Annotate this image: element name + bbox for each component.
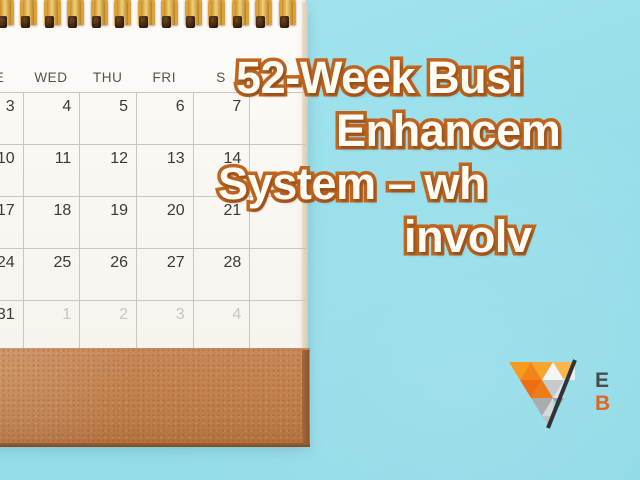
calendar-day-number: 3	[6, 98, 15, 116]
spiral-ring	[113, 0, 126, 32]
spiral-hole	[0, 16, 7, 28]
calendar-base-bottom	[0, 443, 310, 447]
spiral-hole	[256, 16, 265, 28]
calendar-base-edge	[302, 350, 309, 445]
brand-logo[interactable]: E B	[505, 358, 640, 438]
spiral-ring	[160, 0, 173, 32]
calendar-day-cell[interactable]: 20	[136, 197, 193, 248]
calendar-day-number: 4	[232, 306, 241, 324]
spiral-hole	[162, 16, 171, 28]
calendar-day-number: 11	[55, 150, 72, 168]
spiral-ring	[0, 0, 9, 32]
calendar-day-cell[interactable]: 31	[0, 301, 23, 352]
calendar-day-number: 1	[62, 306, 71, 324]
calendar-day-number: 6	[176, 98, 185, 116]
spiral-hole	[233, 16, 242, 28]
calendar-day-number: 24	[0, 254, 15, 272]
triangle-logo-icon	[505, 358, 593, 430]
calendar-cardboard-base	[0, 348, 310, 445]
calendar-day-number: 27	[167, 254, 185, 272]
calendar-day-number: 5	[119, 98, 128, 116]
calendar-day-cell[interactable]: 5	[79, 93, 136, 144]
calendar-day-cell[interactable]: 13	[136, 145, 193, 196]
calendar-day-cell[interactable]: 24	[0, 249, 23, 300]
calendar-day-cell[interactable]: 25	[23, 249, 80, 300]
title-line-2: Enhancem	[336, 105, 640, 158]
calendar-day-number: 17	[0, 202, 15, 220]
weekday-header: WED	[23, 70, 80, 85]
spiral-hole	[21, 16, 30, 28]
spiral-hole	[115, 16, 124, 28]
calendar-day-number: 13	[167, 150, 185, 168]
calendar-day-number: 10	[0, 150, 15, 168]
spiral-hole	[68, 16, 77, 28]
title-line-1: 52-Week Busi	[236, 52, 640, 105]
spiral-hole	[45, 16, 54, 28]
calendar-day-cell[interactable]: 1	[23, 301, 80, 352]
calendar-day-cell[interactable]: 4	[193, 301, 250, 352]
weekday-header: UE	[0, 70, 23, 85]
calendar-day-number: 3	[176, 306, 185, 324]
spiral-ring	[254, 0, 267, 32]
spiral-ring	[90, 0, 103, 32]
logo-text-bottom: B	[595, 393, 640, 414]
calendar-day-cell[interactable]: 17	[0, 197, 23, 248]
spiral-ring	[66, 0, 79, 32]
spiral-ring	[43, 0, 56, 32]
spiral-hole	[92, 16, 101, 28]
calendar-week-row: 311234	[0, 300, 306, 353]
title-line-3: System – wh	[218, 158, 640, 211]
spiral-hole	[209, 16, 218, 28]
calendar-day-cell[interactable]: 12	[79, 145, 136, 196]
weekday-header: FRI	[136, 70, 193, 85]
page-title: 52-Week Busi Enhancem System – wh involv	[214, 52, 640, 264]
calendar-day-cell[interactable]: 11	[23, 145, 80, 196]
calendar-day-number: 26	[110, 254, 128, 272]
calendar-day-number: 18	[54, 202, 72, 220]
calendar-day-cell[interactable]: 2	[79, 301, 136, 352]
calendar-day-cell[interactable]: 10	[0, 145, 23, 196]
spiral-ring	[19, 0, 32, 32]
calendar-day-cell[interactable]: 19	[79, 197, 136, 248]
calendar-day-number: 2	[119, 306, 128, 324]
spiral-binding	[0, 0, 310, 36]
calendar-day-number: 12	[110, 150, 128, 168]
logo-text-top: E	[595, 370, 640, 391]
calendar-day-cell[interactable]: 18	[23, 197, 80, 248]
slide-canvas: UEWEDTHUFRIS 345671011121314171819202124…	[0, 0, 640, 480]
calendar-day-number: 31	[0, 306, 15, 324]
calendar-day-number: 25	[54, 254, 72, 272]
calendar-day-cell[interactable]: 26	[79, 249, 136, 300]
calendar-day-number: 20	[167, 202, 185, 220]
spiral-ring	[207, 0, 220, 32]
spiral-hole	[186, 16, 195, 28]
calendar-day-cell[interactable]	[249, 301, 306, 352]
spiral-ring	[137, 0, 150, 32]
title-line-4: involv	[404, 211, 640, 264]
logo-wordmark: E B	[595, 370, 640, 414]
calendar-day-cell[interactable]: 3	[0, 93, 23, 144]
calendar-day-number: 19	[110, 202, 128, 220]
spiral-hole	[139, 16, 148, 28]
spiral-ring	[278, 0, 291, 32]
spiral-ring	[184, 0, 197, 32]
spiral-ring	[231, 0, 244, 32]
weekday-header: THU	[79, 70, 136, 85]
calendar-day-cell[interactable]: 3	[136, 301, 193, 352]
calendar-day-cell[interactable]: 6	[136, 93, 193, 144]
calendar-day-cell[interactable]: 27	[136, 249, 193, 300]
calendar-day-number: 4	[62, 98, 71, 116]
calendar-day-cell[interactable]: 4	[23, 93, 80, 144]
spiral-hole	[280, 16, 289, 28]
